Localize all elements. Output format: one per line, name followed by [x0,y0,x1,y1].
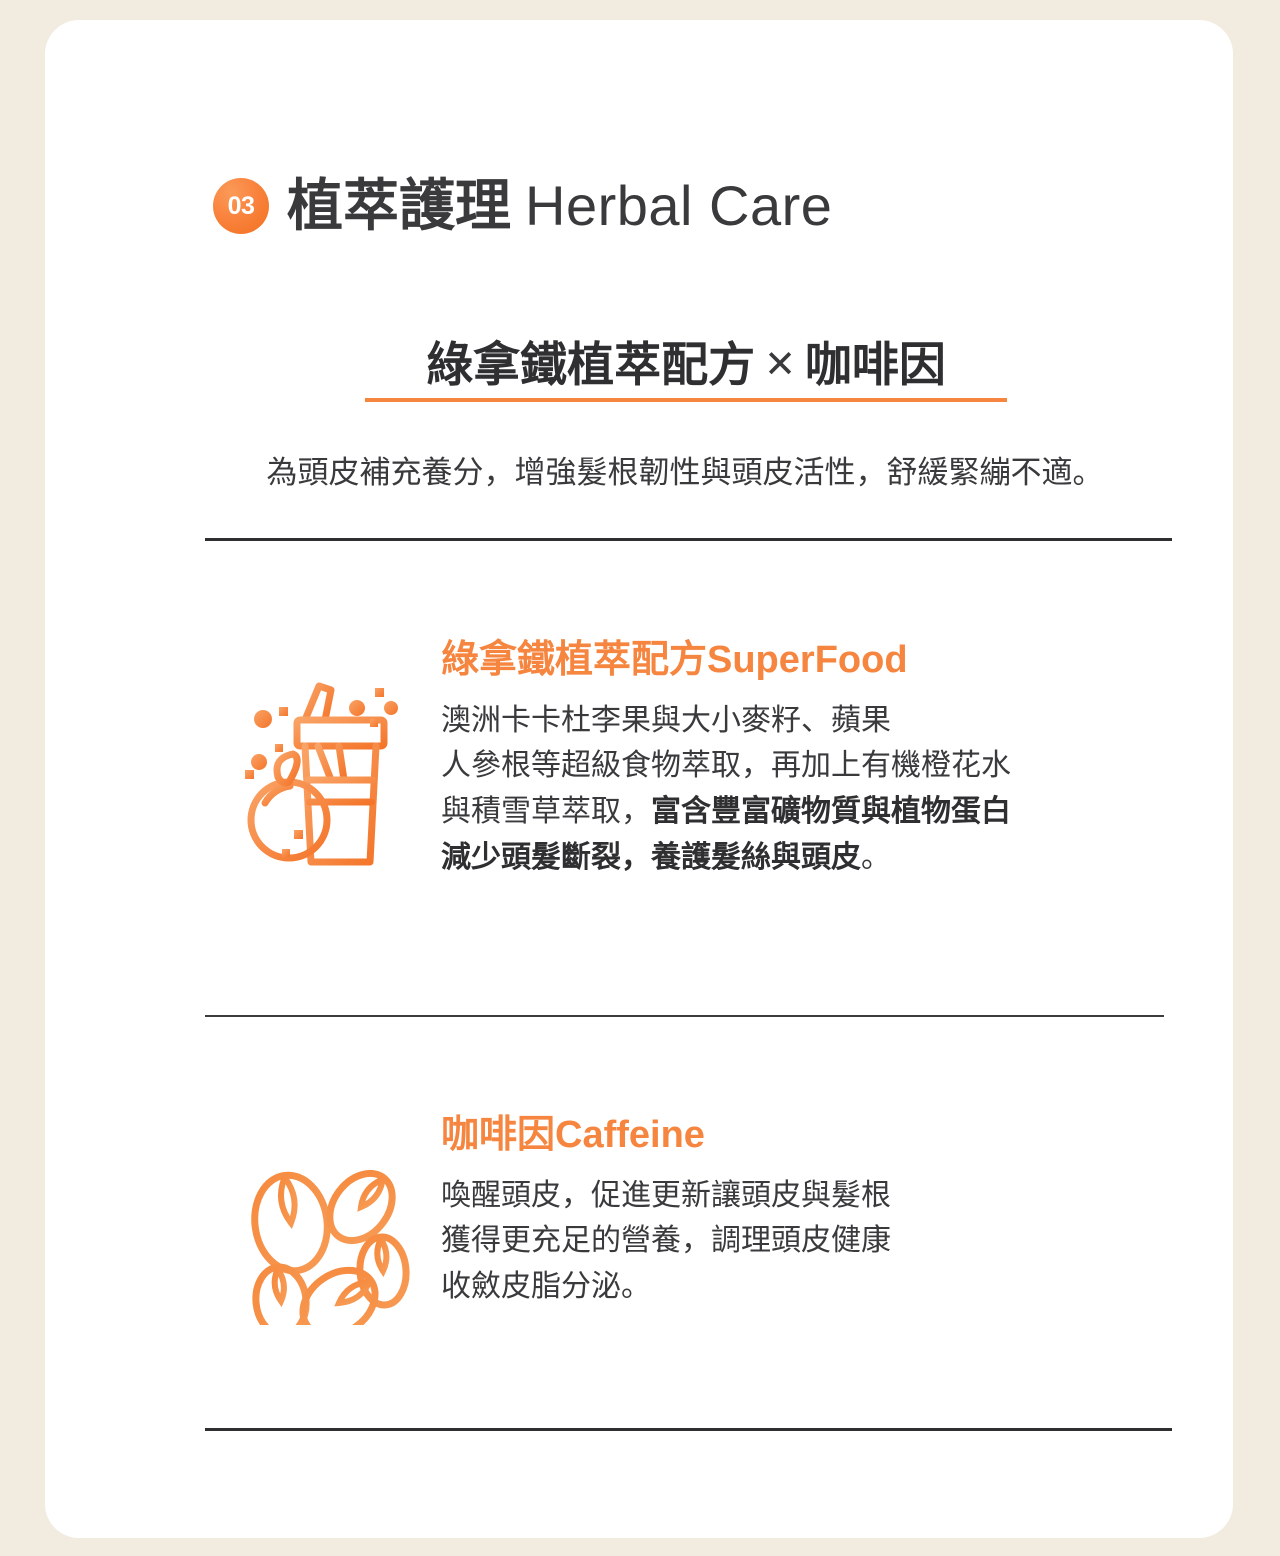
feature-body: 咖啡因Caffeine 喚醒頭皮，促進更新讓頭皮與髮根 獲得更充足的營養，調理頭… [441,1115,891,1310]
feature-body: 綠拿鐵植萃配方SuperFood 澳洲卡卡杜李果與大小麥籽、蘋果 人參根等超級食… [441,640,1011,880]
content-card: 03 植萃護理Herbal Care 綠拿鐵植萃配方✕咖啡因 為頭皮補充養分，增… [45,20,1233,1538]
text-run: 人參根等超級食物萃取，再加上有機橙花水 [441,749,1011,782]
feature-text-line: 澳洲卡卡杜李果與大小麥籽、蘋果 [441,698,1011,744]
text-run: 喚醒頭皮，促進更新讓頭皮與髮根 [441,1179,891,1212]
divider-bottom [205,1428,1172,1431]
page-title-latin: Herbal Care [525,174,832,237]
subtitle-block: 綠拿鐵植萃配方✕咖啡因 [365,338,1007,402]
subtitle-left: 綠拿鐵植萃配方 [426,338,755,391]
feature-text: 喚醒頭皮，促進更新讓頭皮與髮根 獲得更充足的營養，調理頭皮健康 收斂皮脂分泌。 [441,1173,891,1310]
feature-title: 咖啡因Caffeine [441,1115,891,1157]
lead-paragraph: 為頭皮補充養分，增強髮根韌性與頭皮活性，舒緩緊繃不適。 [185,452,1185,494]
text-run: 收斂皮脂分泌。 [441,1270,651,1303]
divider-middle [205,1015,1164,1017]
multiply-icon: ✕ [755,344,805,386]
feature-text-line: 獲得更充足的營養，調理頭皮健康 [441,1218,891,1264]
page-title-cjk: 植萃護理 [287,174,511,237]
section-number-label: 03 [228,194,255,219]
feature-title: 綠拿鐵植萃配方SuperFood [441,640,1011,682]
text-run: 。 [861,841,891,874]
feature-block-caffeine: 咖啡因Caffeine 喚醒頭皮，促進更新讓頭皮與髮根 獲得更充足的營養，調理頭… [213,1115,891,1325]
text-run: 與積雪草萃取， [441,795,651,828]
feature-text: 澳洲卡卡杜李果與大小麥籽、蘋果 人參根等超級食物萃取，再加上有機橙花水 與積雪草… [441,698,1011,880]
feature-text-line: 喚醒頭皮，促進更新讓頭皮與髮根 [441,1173,891,1219]
subtitle: 綠拿鐵植萃配方✕咖啡因 [365,338,1007,392]
text-run-bold: 富含豐富礦物質與植物蛋白 [651,795,1011,828]
page-title: 植萃護理Herbal Care [287,178,832,234]
subtitle-right: 咖啡因 [805,338,946,391]
section-header: 03 植萃護理Herbal Care [213,178,832,234]
coffee-beans-icon [213,1115,441,1325]
feature-text-line: 減少頭髮斷裂，養護髮絲與頭皮。 [441,835,1011,881]
feature-text-line: 收斂皮脂分泌。 [441,1264,891,1310]
subtitle-underline [365,398,1007,402]
divider-top [205,538,1172,541]
smoothie-cup-orange-icon [213,640,441,868]
text-run-bold: 減少頭髮斷裂，養護髮絲與頭皮 [441,841,861,874]
section-number-badge: 03 [213,178,269,234]
text-run: 獲得更充足的營養，調理頭皮健康 [441,1224,891,1257]
text-run: 澳洲卡卡杜李果與大小麥籽、蘋果 [441,704,891,737]
feature-text-line: 人參根等超級食物萃取，再加上有機橙花水 [441,743,1011,789]
feature-text-line: 與積雪草萃取，富含豐富礦物質與植物蛋白 [441,789,1011,835]
feature-block-superfood: 綠拿鐵植萃配方SuperFood 澳洲卡卡杜李果與大小麥籽、蘋果 人參根等超級食… [213,640,1011,880]
